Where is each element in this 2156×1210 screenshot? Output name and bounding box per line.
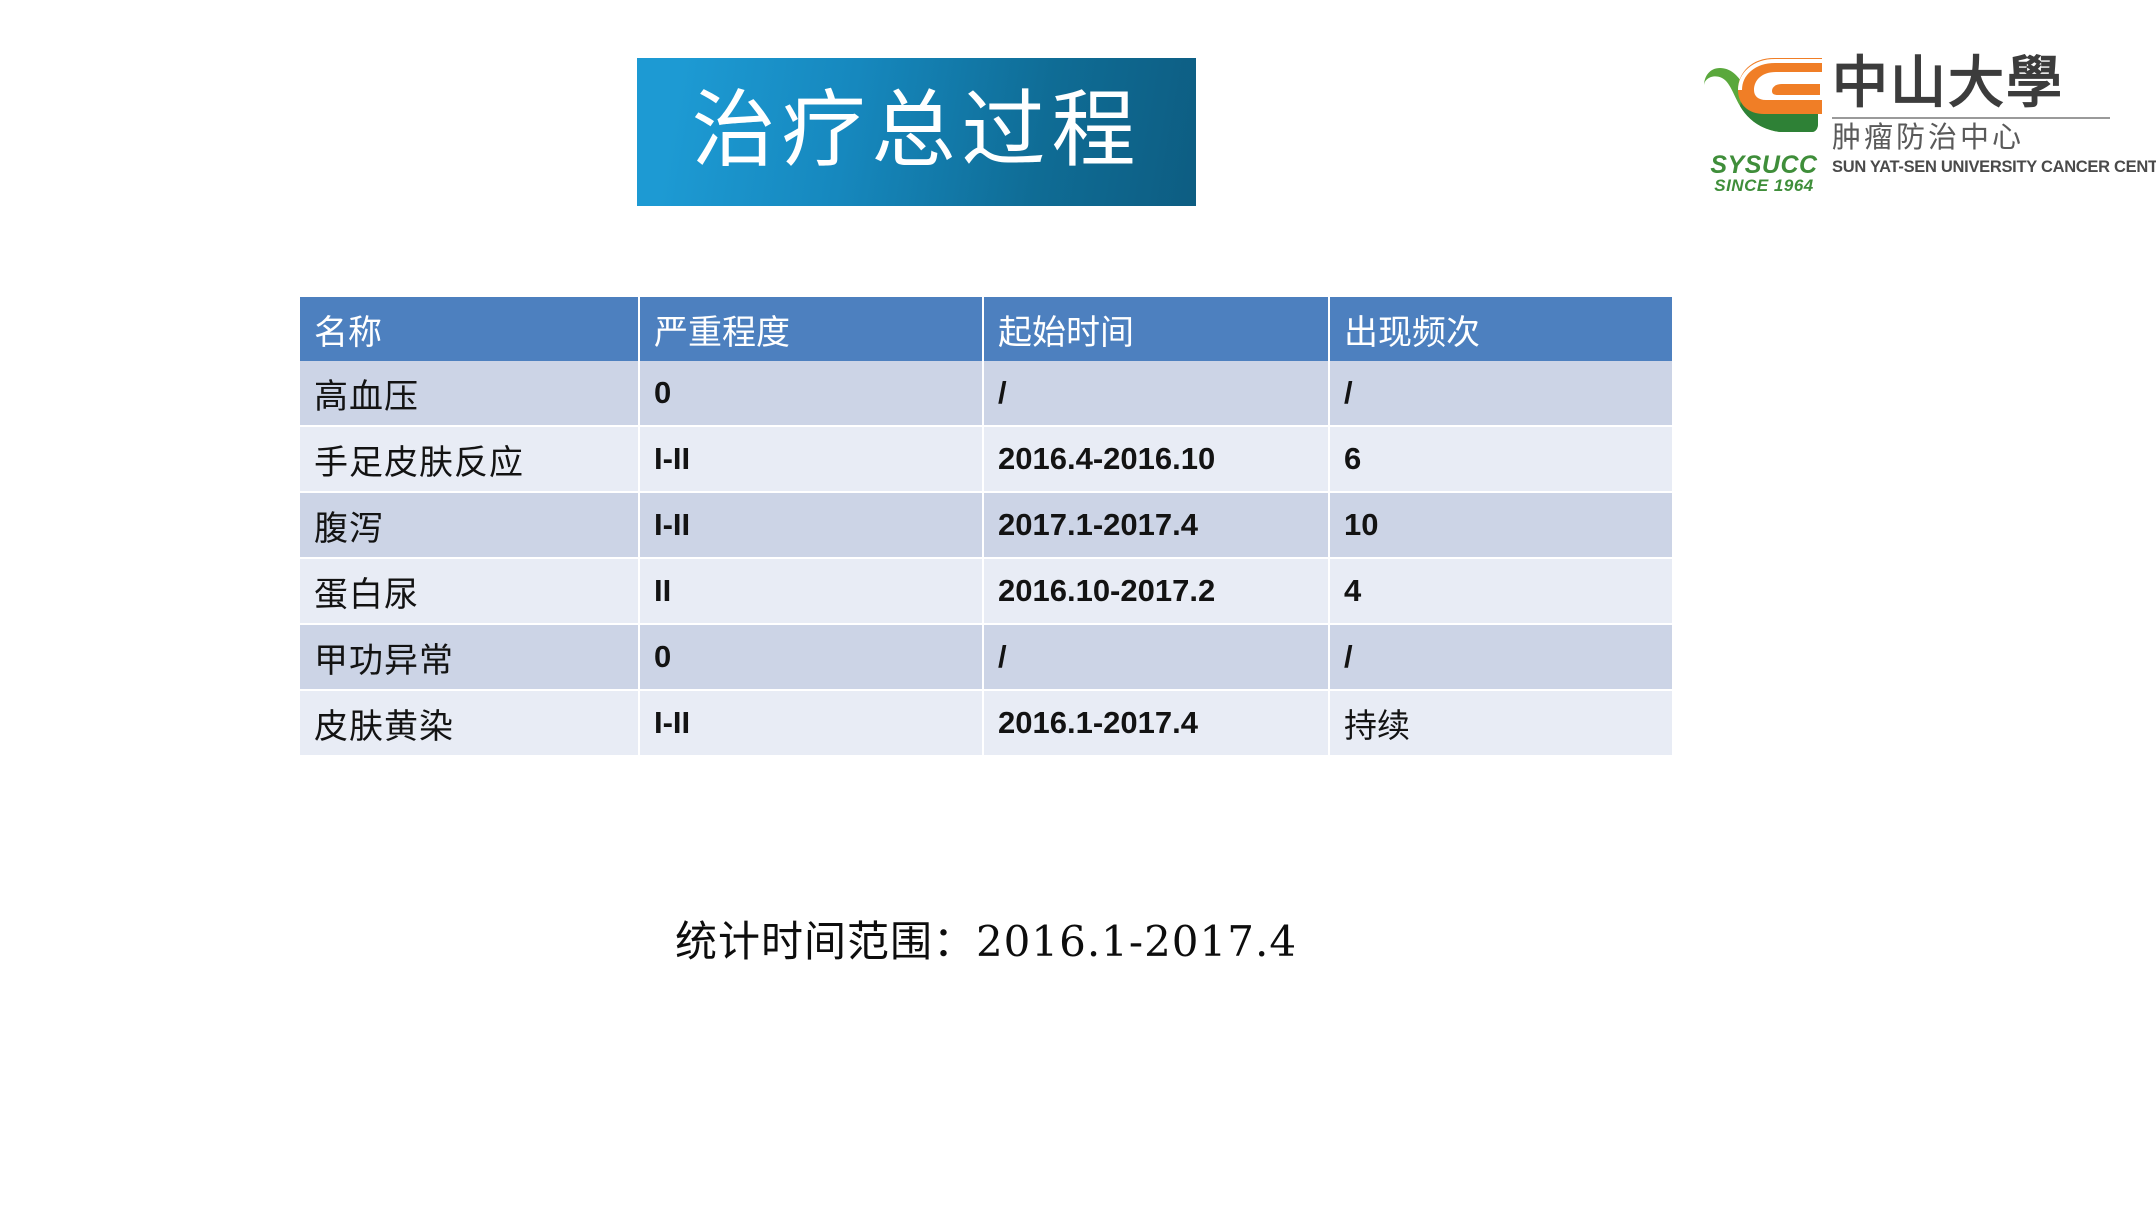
table-row: 腹泻 I-II 2017.1-2017.4 10 (300, 493, 1672, 559)
cell-onset: 2016.1-2017.4 (984, 691, 1330, 757)
table-row: 高血压 0 / / (300, 361, 1672, 427)
cell-frequency: 10 (1330, 493, 1672, 559)
cell-name: 甲功异常 (300, 625, 640, 691)
cell-onset: 2016.4-2016.10 (984, 427, 1330, 493)
cell-frequency: / (1330, 625, 1672, 691)
cell-severity: II (640, 559, 984, 625)
logo-wordmark: 中山大學 肿瘤防治中心 SUN YAT-SEN UNIVERSITY CANCE… (1832, 54, 2110, 178)
column-header-name: 名称 (300, 297, 640, 361)
cell-frequency: 4 (1330, 559, 1672, 625)
table-row: 甲功异常 0 / / (300, 625, 1672, 691)
cell-severity: 0 (640, 361, 984, 427)
cell-severity: I-II (640, 427, 984, 493)
cell-name: 手足皮肤反应 (300, 427, 640, 493)
cell-name: 皮肤黄染 (300, 691, 640, 757)
cell-severity: I-II (640, 691, 984, 757)
cell-name: 高血压 (300, 361, 640, 427)
cell-onset: 2016.10-2017.2 (984, 559, 1330, 625)
statistics-period-caption: 统计时间范围：2016.1-2017.4 (300, 908, 1672, 969)
cell-name: 蛋白尿 (300, 559, 640, 625)
cell-severity: I-II (640, 493, 984, 559)
cell-onset: 2017.1-2017.4 (984, 493, 1330, 559)
page-title: 治疗总过程 (691, 88, 1141, 176)
logo-acronym: SYSUCC (1700, 152, 1828, 178)
logo-center-name-en: SUN YAT-SEN UNIVERSITY CANCER CENTER (1832, 157, 2102, 177)
column-header-severity: 严重程度 (640, 297, 984, 361)
cell-onset: / (984, 625, 1330, 691)
cell-onset: / (984, 361, 1330, 427)
table-row: 皮肤黄染 I-II 2016.1-2017.4 持续 (300, 691, 1672, 757)
logo-university-name-cn: 中山大學 (1832, 54, 2110, 113)
table-row: 蛋白尿 II 2016.10-2017.2 4 (300, 559, 1672, 625)
logo-since: SINCE 1964 (1700, 176, 1828, 196)
logo-center-name-cn: 肿瘤防治中心 (1832, 123, 2110, 153)
cell-frequency: / (1330, 361, 1672, 427)
adverse-events-table: 名称 严重程度 起始时间 出现频次 高血压 0 / / 手足皮肤反应 I-II … (300, 297, 1672, 757)
column-header-onset: 起始时间 (984, 297, 1330, 361)
slide-title-banner: 治疗总过程 (637, 58, 1196, 206)
cell-severity: 0 (640, 625, 984, 691)
cell-name: 腹泻 (300, 493, 640, 559)
institution-logo: SYSUCC SINCE 1964 中山大學 肿瘤防治中心 SUN YAT-SE… (1700, 52, 2110, 197)
cell-frequency: 6 (1330, 427, 1672, 493)
logo-divider (1832, 117, 2110, 119)
table-row: 手足皮肤反应 I-II 2016.4-2016.10 6 (300, 427, 1672, 493)
table-header-row: 名称 严重程度 起始时间 出现频次 (300, 297, 1672, 361)
column-header-frequency: 出现频次 (1330, 297, 1672, 361)
cell-frequency: 持续 (1330, 691, 1672, 757)
